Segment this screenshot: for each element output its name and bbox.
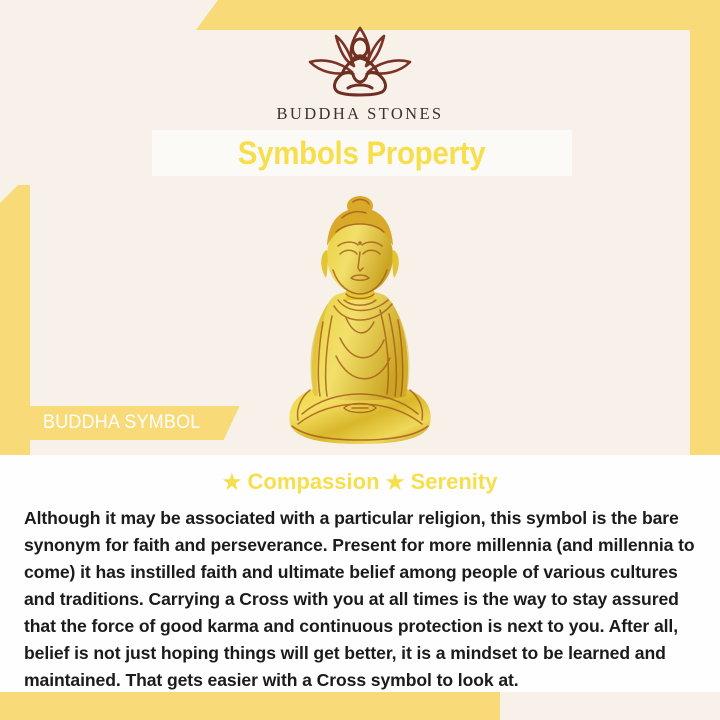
page-title: Symbols Property bbox=[238, 135, 486, 172]
star-icon-2: ★ bbox=[386, 471, 405, 494]
body-paragraph: Although it may be associated with a par… bbox=[24, 505, 696, 694]
frame-accent-bottom bbox=[0, 692, 500, 720]
star-icon-1: ★ bbox=[223, 471, 242, 494]
traits-line: ★ Compassion ★ Serenity bbox=[0, 455, 720, 495]
buddha-symbol-banner: BUDDHA SYMBOL bbox=[12, 406, 240, 440]
trait-compassion: Compassion bbox=[248, 469, 380, 494]
seated-buddha-statue-image bbox=[270, 188, 450, 456]
content-panel: ★ Compassion ★ Serenity Although it may … bbox=[0, 455, 720, 692]
buddha-symbol-label: BUDDHA SYMBOL bbox=[43, 412, 201, 434]
brand-logo: BUDDHA STONES bbox=[0, 22, 720, 124]
brand-name: BUDDHA STONES bbox=[0, 104, 720, 124]
poster-root: BUDDHA STONES Symbols Property bbox=[0, 0, 720, 720]
lotus-meditation-icon bbox=[284, 22, 436, 102]
trait-serenity: Serenity bbox=[411, 469, 498, 494]
title-band: Symbols Property bbox=[152, 130, 572, 176]
